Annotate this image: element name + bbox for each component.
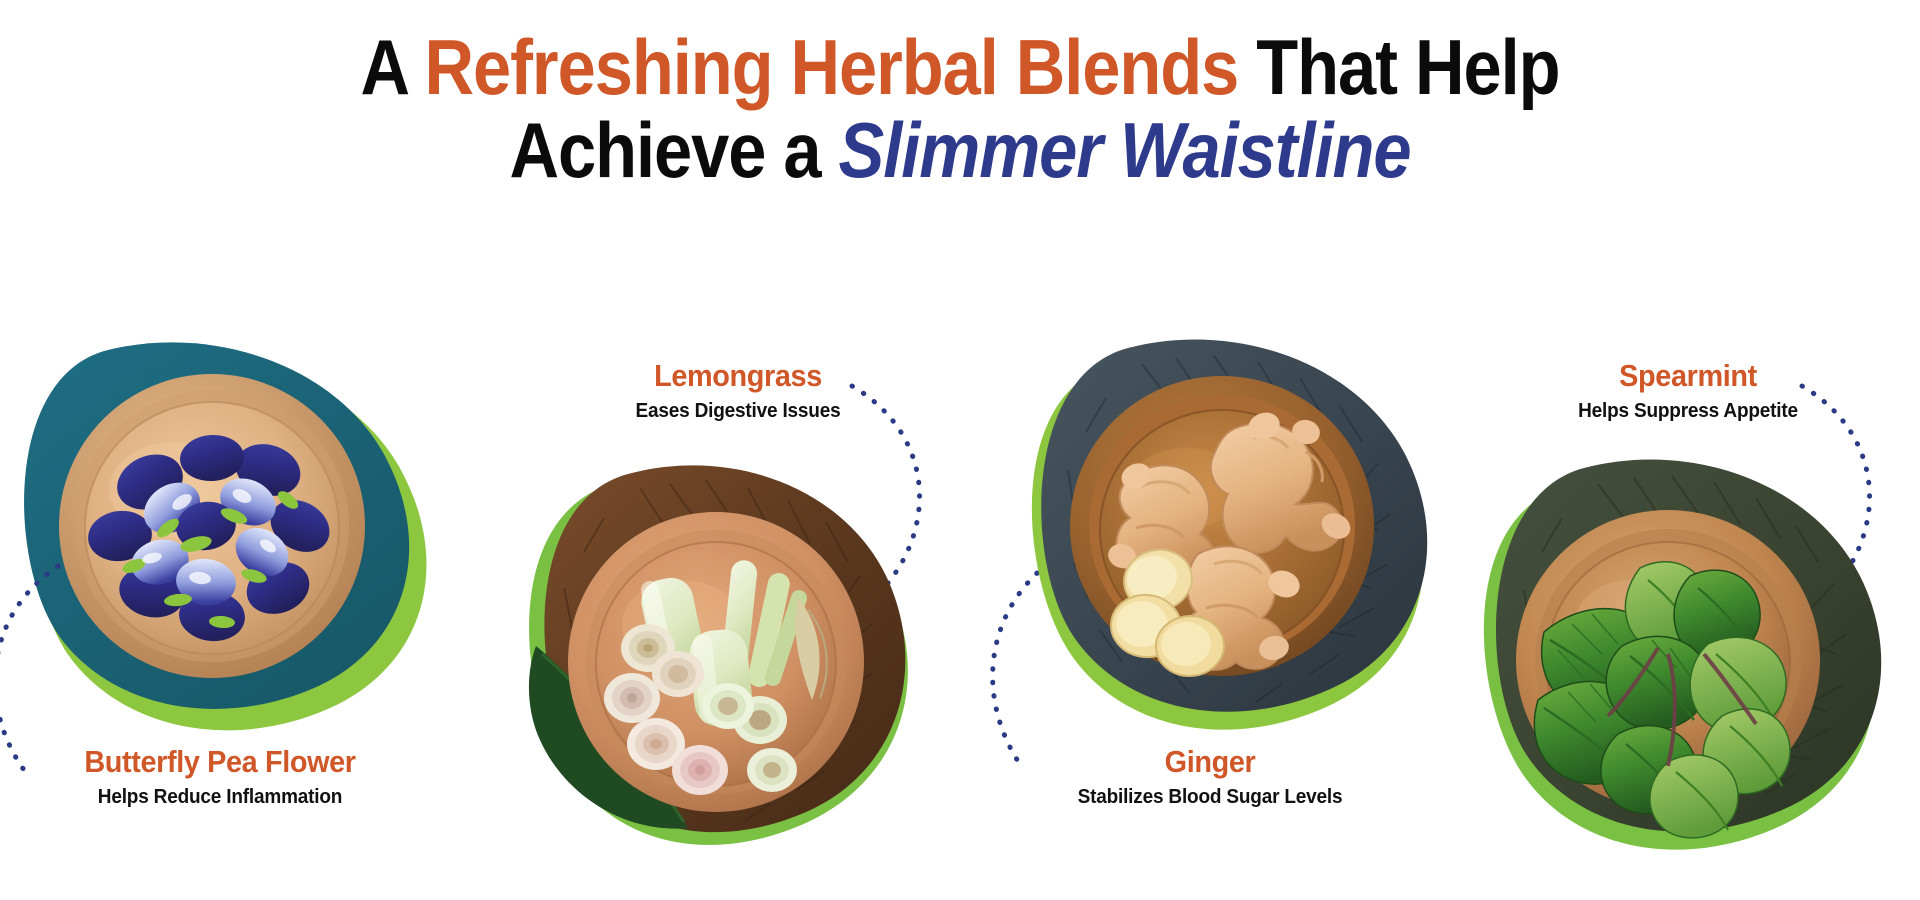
headline-line1-pre: A (361, 23, 425, 111)
infographic-canvas: A Refreshing Herbal Blends That Help Ach… (0, 0, 1920, 900)
item-title: Ginger (1015, 744, 1406, 780)
headline-line2-accent: Slimmer Waistline (838, 106, 1410, 194)
page-title: A Refreshing Herbal Blends That Help Ach… (115, 26, 1805, 191)
headline-line-1: A Refreshing Herbal Blends That Help (115, 26, 1805, 109)
art-butterfly-pea-flower-plate (0, 330, 470, 750)
item-subtitle: Stabilizes Blood Sugar Levels (1011, 786, 1410, 809)
card-spearmint: Spearmint Helps Suppress Appetite (1450, 330, 1920, 900)
label-butterfly-pea-flower: Butterfly Pea Flower Helps Reduce Inflam… (10, 744, 430, 809)
card-lemongrass: Lemongrass Eases Digestive Issues (520, 330, 990, 900)
art-lemongrass-bowl (520, 448, 920, 868)
item-title: Lemongrass (543, 358, 934, 394)
headline-line-2: Achieve a Slimmer Waistline (115, 109, 1805, 192)
headline-line1-post: That Help (1238, 23, 1559, 111)
item-title: Spearmint (1493, 358, 1884, 394)
card-ginger: Ginger Stabilizes Blood Sugar Levels (960, 330, 1450, 900)
item-subtitle: Helps Suppress Appetite (1489, 400, 1888, 423)
headline-line1-accent: Refreshing Herbal Blends (424, 23, 1238, 111)
card-butterfly-pea-flower: Butterfly Pea Flower Helps Reduce Inflam… (0, 330, 480, 900)
art-ginger-bowl (1018, 330, 1438, 750)
headline-line2-pre: Achieve a (509, 106, 838, 194)
label-spearmint: Spearmint Helps Suppress Appetite (1478, 358, 1898, 423)
label-lemongrass: Lemongrass Eases Digestive Issues (528, 358, 948, 423)
item-subtitle: Eases Digestive Issues (539, 400, 938, 423)
item-subtitle: Helps Reduce Inflammation (21, 786, 420, 809)
art-spearmint-plate (1472, 448, 1892, 868)
label-ginger: Ginger Stabilizes Blood Sugar Levels (1000, 744, 1420, 809)
item-title: Butterfly Pea Flower (25, 744, 416, 780)
